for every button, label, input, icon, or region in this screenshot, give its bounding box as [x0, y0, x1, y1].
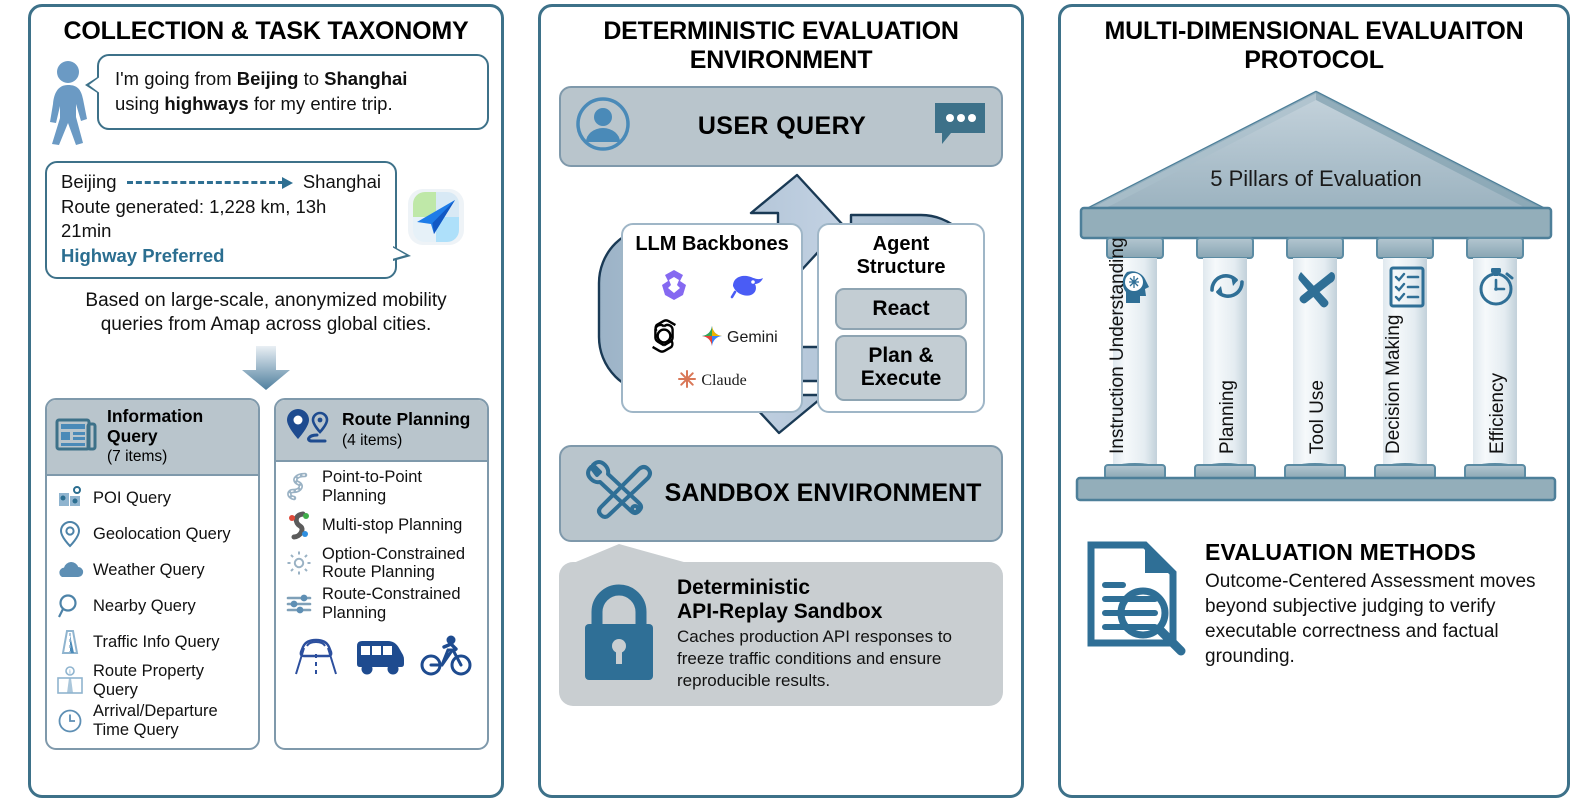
list-item-label: Arrival/Departure Time Query [93, 702, 251, 740]
newspaper-icon [55, 414, 99, 459]
bubble-text-prefix: I'm going from [115, 68, 237, 89]
five-pillars-svg: 5 Pillars of Evaluation [1071, 82, 1561, 522]
agent-button-react[interactable]: React [835, 288, 967, 331]
list-item-label: Route Property Query [93, 662, 251, 700]
evaluation-methods-body: Outcome-Centered Assessment moves beyond… [1205, 569, 1545, 670]
api-card-body: Caches production API responses to freez… [677, 626, 987, 692]
mid-panel-title: DETERMINISTIC EVALUATION ENVIRONMENT [541, 7, 1021, 82]
card-count-text: (4 items) [342, 432, 402, 449]
task-taxonomy-cards: Information Query (7 items) POI Query [31, 396, 501, 760]
route-origin: Beijing [61, 170, 117, 195]
sandbox-environment-bar: SANDBOX ENVIRONMENT [559, 445, 1003, 542]
list-item[interactable]: Multi-stop Planning [284, 509, 480, 542]
route-result-row: Beijing Shanghai Route generated: 1,228 … [31, 151, 501, 278]
list-item[interactable]: Point-to-Point Planning [284, 468, 480, 506]
list-item-label: Option-Constrained Route Planning [322, 545, 480, 583]
route-endpoints: Beijing Shanghai [61, 170, 381, 195]
api-title-line2: API-Replay Sandbox [677, 600, 882, 623]
transport-modes-row [284, 626, 480, 683]
list-item[interactable]: Route-Constrained Planning [284, 585, 480, 623]
api-replay-sandbox-card: Deterministic API-Replay Sandbox Caches … [559, 562, 1003, 707]
gemini-logo-group: Gemini [701, 325, 778, 352]
infographic-root: COLLECTION & TASK TAXONOMY I'm going fro… [0, 0, 1578, 804]
list-item[interactable]: Option-Constrained Route Planning [284, 545, 480, 583]
magnifier-icon [55, 593, 85, 619]
llm-logo-grid: Gemini Claude [633, 260, 791, 401]
route-generated-text: Route generated: 1,228 km, 13h 21min [61, 195, 381, 244]
api-replay-sandbox-section: Deterministic API-Replay Sandbox Caches … [559, 562, 1003, 707]
user-query-bar[interactable]: USER QUERY [559, 86, 1003, 167]
right-panel-title: MULTI-DIMENSIONAL EVALUAITON PROTOCOL [1061, 7, 1567, 82]
agent-button-plan-execute[interactable]: Plan & Execute [835, 335, 967, 400]
dataset-caption: Based on large-scale, anonymized mobilit… [31, 279, 501, 338]
pillar-label-3: Decision Making [1383, 314, 1404, 453]
card-header-route-planning: Route Planning (4 items) [276, 400, 487, 462]
flow-down-arrow-icon [31, 338, 501, 396]
pedestrian-icon [45, 60, 93, 151]
list-item[interactable]: Nearby Query [55, 590, 251, 623]
agent-structure-title: Agent Structure [829, 233, 973, 279]
bus-icon [353, 634, 407, 681]
winding-road-icon [284, 472, 314, 502]
card-header-information-query: Information Query (7 items) [47, 400, 258, 476]
card-title-text: Information Query [107, 406, 203, 446]
claude-label: Claude [701, 372, 746, 390]
document-magnifier-icon [1083, 539, 1189, 662]
agent-structure-card: Agent Structure React Plan & Execute [817, 223, 985, 413]
panel-multi-dimensional-evaluation-protocol: MULTI-DIMENSIONAL EVALUAITON PROTOCOL [1058, 4, 1570, 798]
multi-stop-road-icon [284, 510, 314, 540]
route-result-bubble: Beijing Shanghai Route generated: 1,228 … [45, 161, 397, 278]
list-item-label: Nearby Query [93, 597, 196, 616]
list-item-label: Geolocation Query [93, 525, 231, 544]
claude-logo-group: Claude [677, 369, 746, 394]
api-title-line1: Deterministic [677, 576, 810, 599]
panel-collection-task-taxonomy: COLLECTION & TASK TAXONOMY I'm going fro… [28, 4, 504, 798]
card-title-information-query: Information Query (7 items) [107, 407, 250, 466]
list-item[interactable]: i Route Property Query [55, 662, 251, 700]
bubble-origin: Beijing [237, 68, 299, 89]
sliders-icon [284, 592, 314, 616]
list-item[interactable]: Traffic Info Query [55, 626, 251, 659]
panel-deterministic-evaluation-environment: DETERMINISTIC EVALUATION ENVIRONMENT USE… [538, 4, 1024, 798]
claude-logo-icon [677, 369, 697, 394]
api-card-title: Deterministic API-Replay Sandbox [677, 576, 882, 623]
list-item-label: Weather Query [93, 561, 205, 580]
loop-inner-cards: LLM Backbones [621, 223, 985, 413]
card-route-planning[interactable]: Route Planning (4 items) Point-to-Point … [274, 398, 489, 750]
user-avatar-icon [575, 96, 631, 157]
list-item-label: Point-to-Point Planning [322, 468, 480, 506]
evaluation-loop: LLM Backbones [547, 171, 1015, 439]
sandbox-environment-label: SANDBOX ENVIRONMENT [663, 479, 983, 508]
evaluation-methods-title: EVALUATION METHODS [1205, 539, 1545, 566]
amap-logo-icon [405, 186, 467, 253]
bubble-line2-prefix: using [115, 93, 164, 114]
card-title-route-planning: Route Planning (4 items) [342, 410, 470, 449]
llm-backbones-title: LLM Backbones [633, 233, 791, 256]
list-item-label: Route-Constrained Planning [322, 585, 480, 623]
user-speech-bubble: I'm going from Beijing to Shanghai using… [97, 54, 489, 130]
bubble-destination: Shanghai [324, 68, 407, 89]
route-preference-badge: Highway Preferred [61, 244, 381, 269]
route-dashed-arrow-icon [127, 177, 293, 189]
notch-connector-icon [571, 544, 691, 564]
list-item-label: Traffic Info Query [93, 633, 220, 652]
deepseek-logo-icon [729, 270, 769, 305]
llm-backbones-card: LLM Backbones [621, 223, 803, 413]
cloud-icon [55, 560, 85, 580]
list-item-label: POI Query [93, 489, 171, 508]
openai-logo-icon [646, 318, 682, 359]
bicycle-icon [420, 634, 472, 681]
chat-bubble-icon [933, 99, 987, 154]
tools-wrench-screwdriver-icon [579, 457, 653, 530]
temple-graphic: 5 Pillars of Evaluation [1071, 82, 1557, 527]
car-icon [292, 634, 340, 681]
pediment-label: 5 Pillars of Evaluation [1210, 166, 1422, 191]
bubble-mid: to [298, 68, 324, 89]
bubble-line2-suffix: for my entire trip. [249, 93, 393, 114]
card-title-text: Route Planning [342, 409, 470, 429]
pillar-label-2: Tool Use [1307, 380, 1328, 454]
gemini-label: Gemini [727, 329, 778, 347]
list-item[interactable]: Geolocation Query [55, 518, 251, 551]
poi-icon [55, 486, 85, 510]
lock-icon [573, 576, 665, 691]
information-query-list: POI Query Geolocation Query Weather Quer… [47, 476, 258, 748]
bubble-mode: highways [164, 93, 248, 114]
route-pins-icon [284, 407, 334, 452]
gear-icon [284, 549, 314, 577]
list-item[interactable]: POI Query [55, 482, 251, 515]
map-pin-icon [55, 520, 85, 548]
left-panel-title: COLLECTION & TASK TAXONOMY [31, 7, 501, 52]
pillar-label-1: Planning [1217, 380, 1238, 454]
road-traffic-icon [55, 629, 85, 655]
list-item[interactable]: Weather Query [55, 554, 251, 587]
user-utterance-row: I'm going from Beijing to Shanghai using… [31, 52, 501, 151]
route-destination: Shanghai [303, 170, 381, 195]
pillar-label-0: Instruction Understanding [1107, 237, 1128, 454]
list-item[interactable]: Arrival/Departure Time Query [55, 702, 251, 740]
list-item-label: Multi-stop Planning [322, 516, 462, 535]
user-query-label: USER QUERY [647, 112, 917, 141]
route-planning-list: Point-to-Point Planning Multi-stop Plann… [276, 462, 487, 748]
card-count-text: (7 items) [107, 448, 167, 465]
clock-icon [55, 708, 85, 734]
card-information-query[interactable]: Information Query (7 items) POI Query [45, 398, 260, 750]
gemini-logo-icon [701, 325, 723, 352]
evaluation-methods-section: EVALUATION METHODS Outcome-Centered Asse… [1061, 527, 1567, 670]
pillar-label-4: Efficiency [1487, 372, 1508, 453]
road-info-icon: i [55, 666, 85, 696]
qwen-logo-icon [656, 267, 692, 308]
